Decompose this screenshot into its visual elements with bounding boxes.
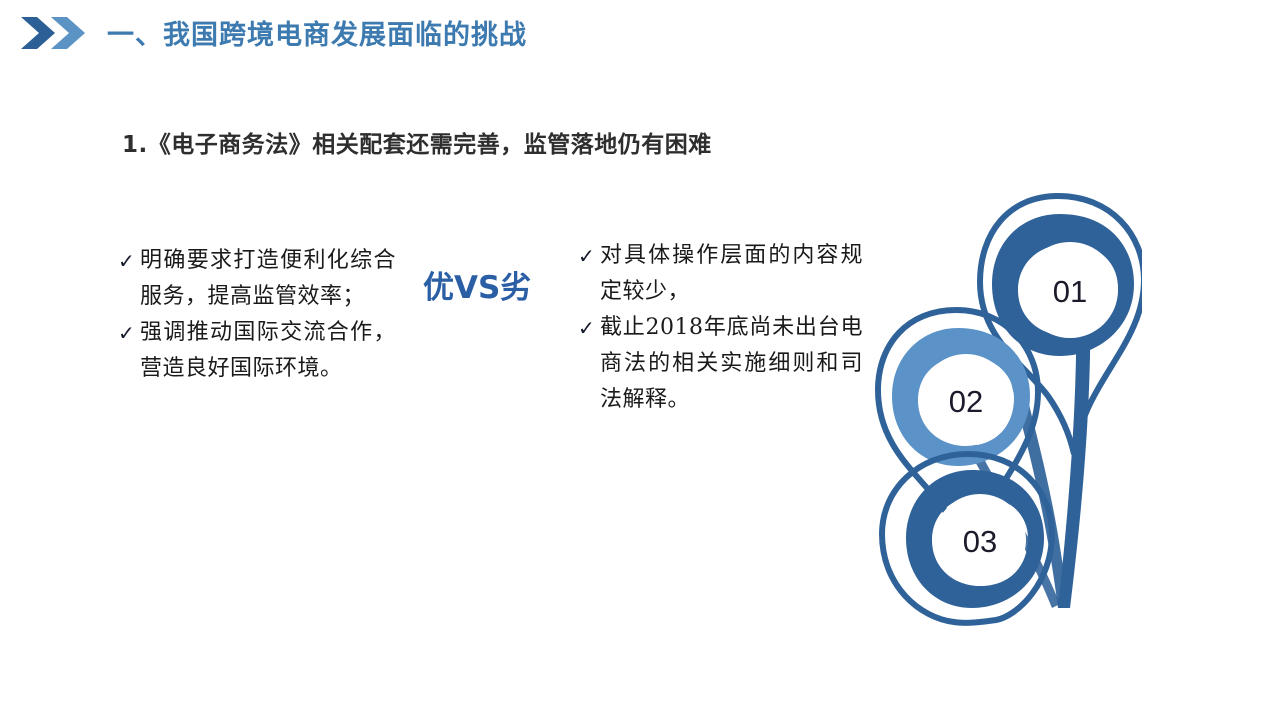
balloon-cluster-graphic: 01 02 03 (862, 178, 1142, 628)
chevron-right-light-icon (49, 15, 87, 51)
check-icon: ✓ (118, 315, 140, 351)
slide-header: 一、我国跨境电商发展面临的挑战 (0, 0, 1280, 66)
check-icon: ✓ (578, 238, 600, 274)
versus-label: 优VS劣 (423, 262, 531, 307)
list-item: ✓ 对具体操作层面的内容规定较少， (578, 238, 863, 310)
balloon-03-number: 03 (963, 524, 997, 559)
list-item-text: 强调推动国际交流合作，营造良好国际环境。 (140, 315, 396, 387)
section-subtitle: 1.《电子商务法》相关配套还需完善，监管落地仍有困难 (122, 125, 712, 159)
list-item-text: 截止2018年底尚未出台电商法的相关实施细则和司法解释。 (600, 310, 863, 418)
list-item: ✓ 截止2018年底尚未出台电商法的相关实施细则和司法解释。 (578, 310, 863, 418)
disadvantages-column: ✓ 对具体操作层面的内容规定较少， ✓ 截止2018年底尚未出台电商法的相关实施… (578, 238, 863, 418)
check-icon: ✓ (578, 310, 600, 346)
list-item: ✓ 明确要求打造便利化综合服务，提高监管效率； (118, 243, 396, 315)
balloon-01-number: 01 (1053, 274, 1087, 309)
list-item-text: 对具体操作层面的内容规定较少， (600, 238, 863, 310)
chevron-group (19, 15, 93, 51)
balloon-02-number: 02 (949, 384, 983, 419)
list-item: ✓ 强调推动国际交流合作，营造良好国际环境。 (118, 315, 396, 387)
advantages-column: ✓ 明确要求打造便利化综合服务，提高监管效率； ✓ 强调推动国际交流合作，营造良… (118, 243, 396, 387)
check-icon: ✓ (118, 243, 140, 279)
page-title: 一、我国跨境电商发展面临的挑战 (107, 13, 527, 52)
list-item-text: 明确要求打造便利化综合服务，提高监管效率； (140, 243, 396, 315)
